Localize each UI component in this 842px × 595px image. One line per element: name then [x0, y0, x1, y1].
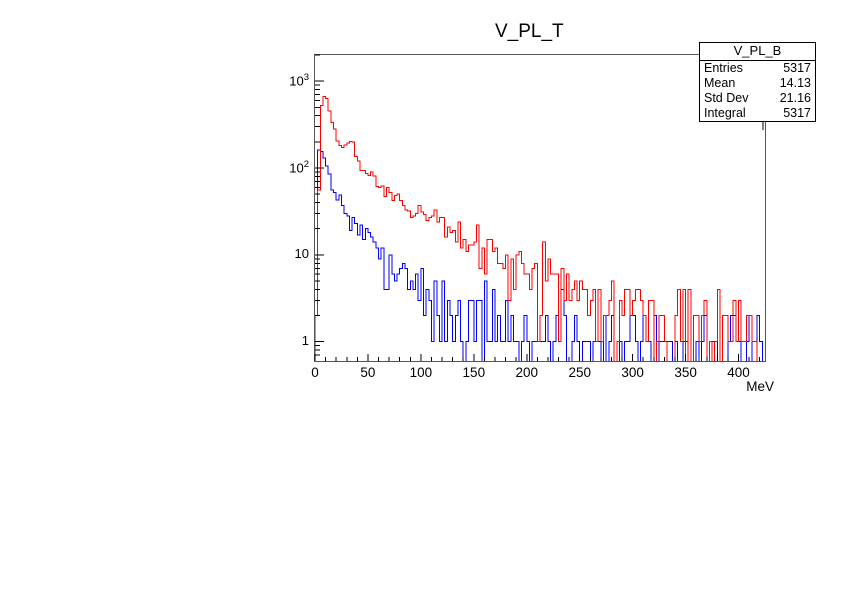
x-tick-label: 250 [555, 365, 605, 380]
x-tick-label: 300 [608, 365, 658, 380]
stats-row-mean: Mean 14.13 [700, 76, 815, 91]
x-tick-label: 100 [396, 365, 446, 380]
x-tick-label: 200 [502, 365, 552, 380]
stats-row-std-dev: Std Dev 21.16 [700, 91, 815, 106]
stats-row-integral: Integral 5317 [700, 106, 815, 121]
series-layer [315, 96, 762, 361]
stats-label-std-dev: Std Dev [704, 91, 748, 106]
x-axis-title: MeV [714, 379, 774, 394]
y-tick-label: 102 [263, 159, 309, 175]
stats-box-header: V_PL_B [700, 43, 815, 61]
stats-value-entries: 5317 [783, 61, 811, 76]
x-tick-label: 0 [290, 365, 340, 380]
x-tick-label: 150 [449, 365, 499, 380]
y-tick-label: 103 [263, 72, 309, 88]
page-title: V_PL_T [495, 21, 564, 43]
stats-value-std-dev: 21.16 [780, 91, 811, 106]
histogram-plot-area [315, 55, 765, 361]
stats-value-mean: 14.13 [780, 76, 811, 91]
x-tick-label: 400 [714, 365, 764, 380]
x-tick-label: 50 [343, 365, 393, 380]
stats-row-entries: Entries 5317 [700, 61, 815, 76]
stats-value-integral: 5317 [783, 106, 811, 121]
histogram-series-v-pl-t [315, 96, 757, 361]
stats-label-integral: Integral [704, 106, 746, 121]
x-tick-label: 350 [661, 365, 711, 380]
stats-label-entries: Entries [704, 61, 743, 76]
stats-box: V_PL_B Entries 5317 Mean 14.13 Std Dev 2… [699, 42, 816, 122]
stats-label-mean: Mean [704, 76, 735, 91]
root-canvas: V_PL_T V_PL_B Entries 5317 Mean 14.13 St… [0, 0, 842, 595]
y-tick-label: 10 [263, 246, 309, 261]
y-tick-label: 1 [263, 333, 309, 348]
histogram-series-v-pl-b [315, 150, 762, 361]
